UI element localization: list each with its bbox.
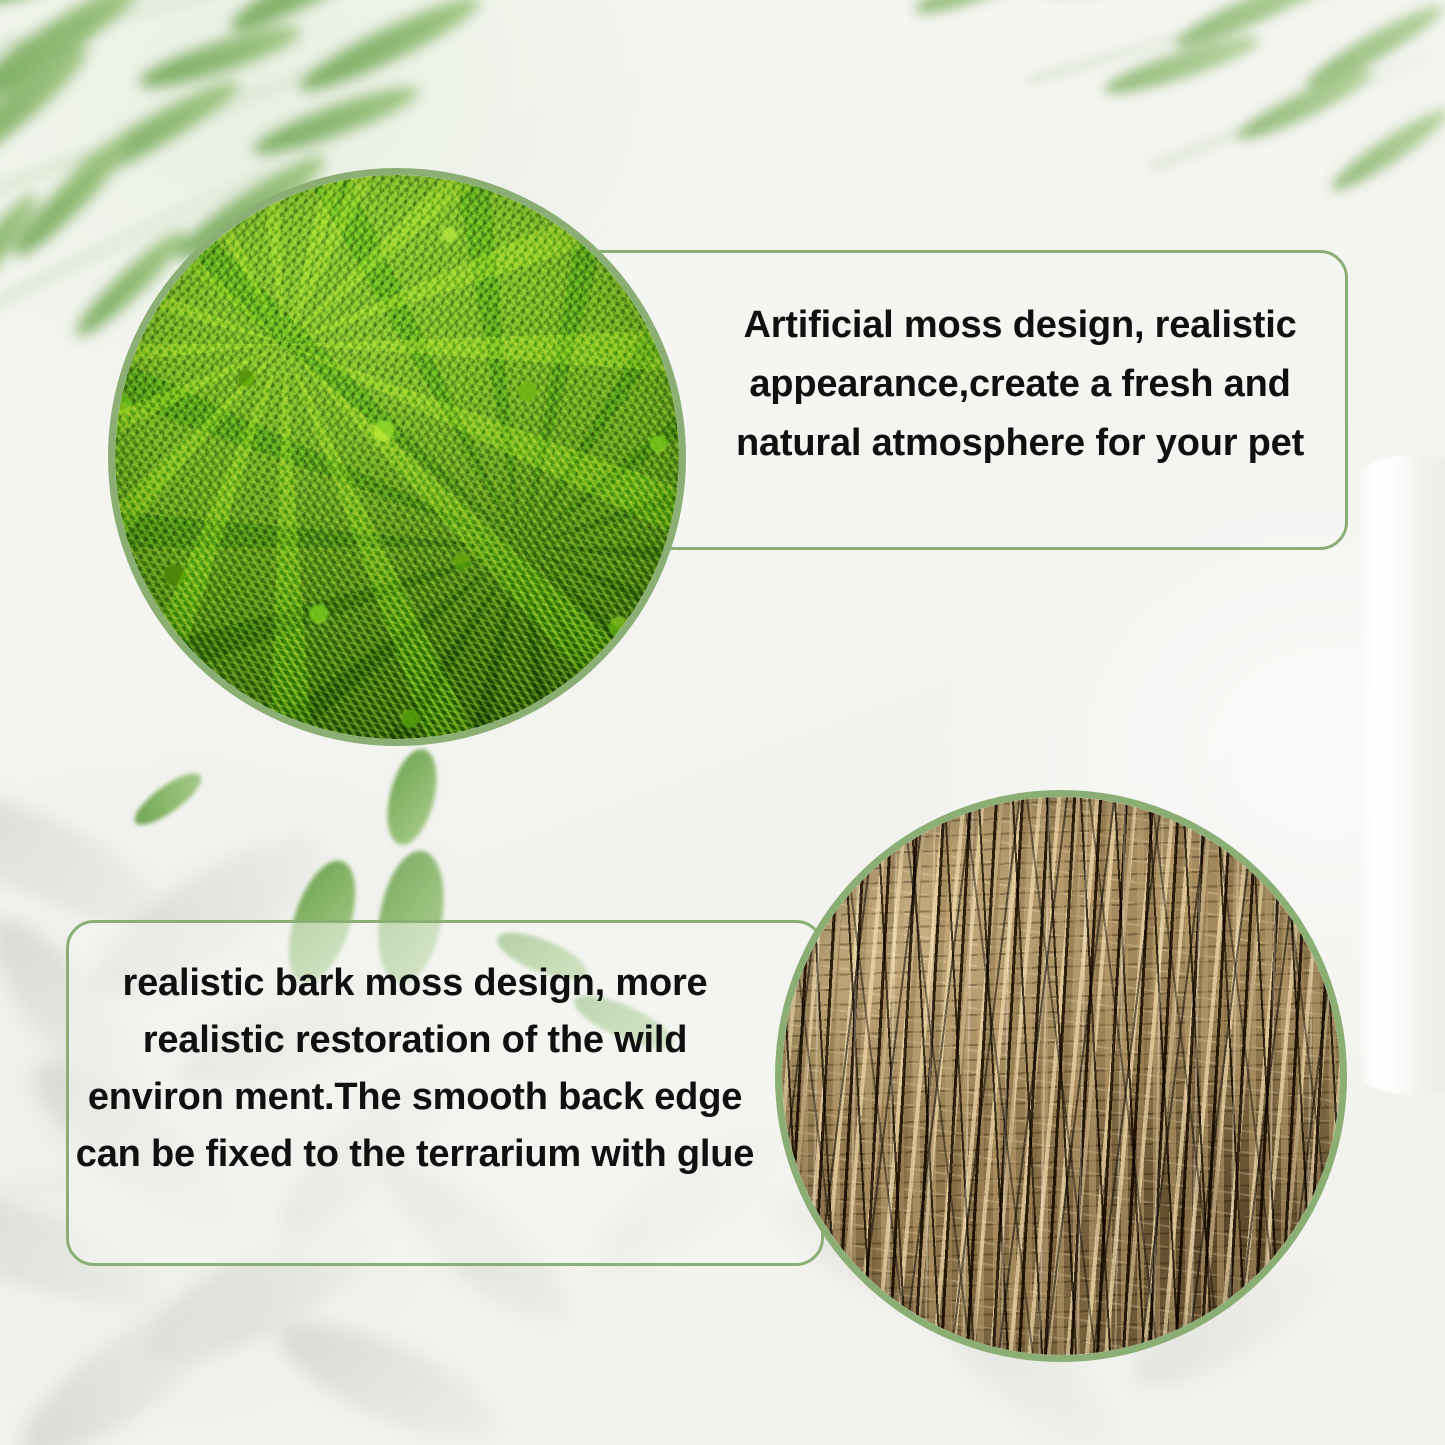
bark-photo [782, 797, 1340, 1355]
foliage-top-right [900, 0, 1445, 290]
callout-text-bark: realistic bark moss design, more realist… [70, 955, 760, 1183]
callout-text-moss: Artificial moss design, realistic appear… [690, 296, 1350, 473]
white-cylinder-object [1356, 455, 1445, 1095]
moss-photo-circle [108, 168, 686, 746]
bark-photo-circle [775, 790, 1347, 1362]
product-infographic: Artificial moss design, realistic appear… [0, 0, 1445, 1445]
moss-speckle-overlay [115, 175, 679, 739]
bark-crack-overlay [782, 797, 1340, 1355]
moss-photo [115, 175, 679, 739]
